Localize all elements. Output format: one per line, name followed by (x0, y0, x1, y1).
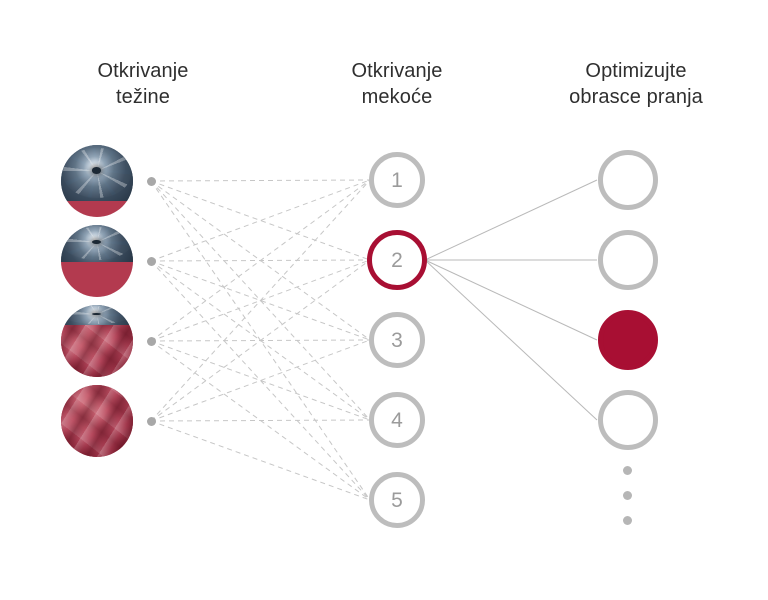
input-node-3[interactable] (61, 305, 133, 377)
edge-in3-h3 (151, 340, 370, 341)
hidden-node-3-label: 3 (391, 330, 403, 351)
hidden-node-5[interactable]: 5 (369, 472, 425, 528)
output-node-2[interactable] (598, 230, 658, 290)
edge-in3-h4 (151, 341, 370, 420)
hidden-node-3[interactable]: 3 (369, 312, 425, 368)
washing-machine-drum-icon (61, 145, 133, 201)
hidden-node-1-label: 1 (391, 170, 403, 191)
hidden-to-output-edges (425, 180, 597, 420)
column-title-output: Optimizujte obrasce pranja (512, 58, 760, 110)
column-title-input-text: Otkrivanje težine (97, 60, 188, 108)
output-node-4[interactable] (598, 390, 658, 450)
input-node-1[interactable] (61, 145, 133, 217)
edge-in1-h5 (151, 181, 370, 500)
edge-in1-h4 (151, 181, 370, 420)
column-title-output-text: Optimizujte obrasce pranja (569, 60, 703, 108)
hidden-node-2[interactable]: 2 (367, 230, 427, 290)
hidden-node-4[interactable]: 4 (369, 392, 425, 448)
input-to-hidden-edges (151, 180, 370, 500)
edge-in4-h4 (151, 420, 370, 421)
fan-dot-4 (147, 417, 156, 426)
input-node-4[interactable] (61, 385, 133, 457)
input-node-2[interactable] (61, 225, 133, 297)
edge-in2-h3 (151, 261, 370, 340)
diagram-canvas: Otkrivanje težine Otkrivanje mekoće Opti… (0, 0, 768, 600)
edge-in1-h3 (151, 181, 370, 340)
edge-in3-h1 (151, 180, 370, 341)
edge-in2-h5 (151, 261, 370, 500)
edge-h2-out4 (425, 260, 597, 420)
edge-in3-h2 (151, 260, 370, 341)
ellipsis-dot-1 (623, 466, 632, 475)
hidden-node-4-label: 4 (391, 410, 403, 431)
edge-h2-out3 (425, 260, 597, 340)
laundry-fabric-icon (61, 385, 133, 457)
edge-in2-h1 (151, 180, 370, 261)
edge-h2-out1 (425, 180, 597, 260)
edge-in4-h3 (151, 340, 370, 421)
edge-in1-h1 (151, 180, 370, 181)
fan-dot-3 (147, 337, 156, 346)
output-node-1[interactable] (598, 150, 658, 210)
ellipsis-dot-3 (623, 516, 632, 525)
column-title-hidden-text: Otkrivanje mekoće (351, 60, 442, 108)
ellipsis-dot-2 (623, 491, 632, 500)
edge-in3-h5 (151, 341, 370, 500)
hidden-node-2-label: 2 (391, 250, 403, 271)
output-node-3[interactable] (598, 310, 658, 370)
edge-in2-h4 (151, 261, 370, 420)
hidden-node-5-label: 5 (391, 490, 403, 511)
column-title-hidden: Otkrivanje mekoće (278, 58, 516, 110)
column-title-input: Otkrivanje težine (18, 58, 268, 110)
fan-dot-1 (147, 177, 156, 186)
edge-in2-h2 (151, 260, 370, 261)
edge-in1-h2 (151, 181, 370, 260)
hidden-node-1[interactable]: 1 (369, 152, 425, 208)
laundry-fabric-icon (61, 201, 133, 217)
edge-in4-h2 (151, 260, 370, 421)
edge-in4-h1 (151, 180, 370, 421)
laundry-fabric-icon (61, 325, 133, 377)
edge-in4-h5 (151, 421, 370, 500)
laundry-fabric-icon (61, 262, 133, 297)
washing-machine-drum-icon (61, 225, 133, 262)
fan-dot-2 (147, 257, 156, 266)
washing-machine-drum-icon (61, 305, 133, 325)
